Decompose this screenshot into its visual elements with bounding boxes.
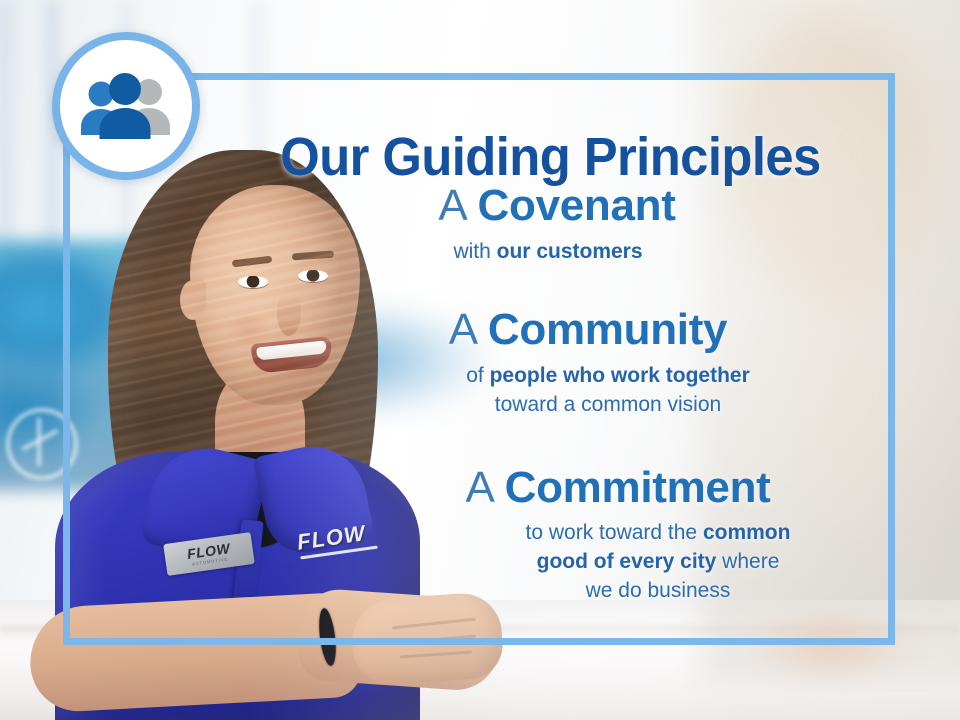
- principle-heading: A Covenant: [300, 182, 814, 230]
- principle-heading: A Community: [300, 306, 876, 354]
- principle-heading: A Commitment: [356, 464, 880, 512]
- poster-canvas: FLOW AUTOMOTIVE FLOW: [0, 0, 960, 720]
- principle-keyword: Covenant: [478, 181, 676, 230]
- principles-list: A Covenant with our customers A Communit…: [300, 182, 880, 610]
- principle-article: A: [449, 305, 476, 354]
- principle-subtext: of people who work togethertoward a comm…: [300, 362, 876, 420]
- principle-subtext: with our customers: [300, 238, 814, 267]
- principle-covenant: A Covenant with our customers: [300, 182, 880, 266]
- principle-subtext: to work toward the commongood of every c…: [356, 519, 880, 606]
- principle-keyword: Commitment: [505, 463, 771, 512]
- principle-community: A Community of people who work togethert…: [300, 306, 880, 419]
- principle-article: A: [438, 181, 465, 230]
- principle-article: A: [465, 463, 492, 512]
- page-title: Our Guiding Principles: [29, 130, 931, 184]
- principle-keyword: Community: [488, 305, 727, 354]
- principle-commitment: A Commitment to work toward the commongo…: [300, 464, 880, 606]
- blurred-customer-hand: [740, 600, 930, 690]
